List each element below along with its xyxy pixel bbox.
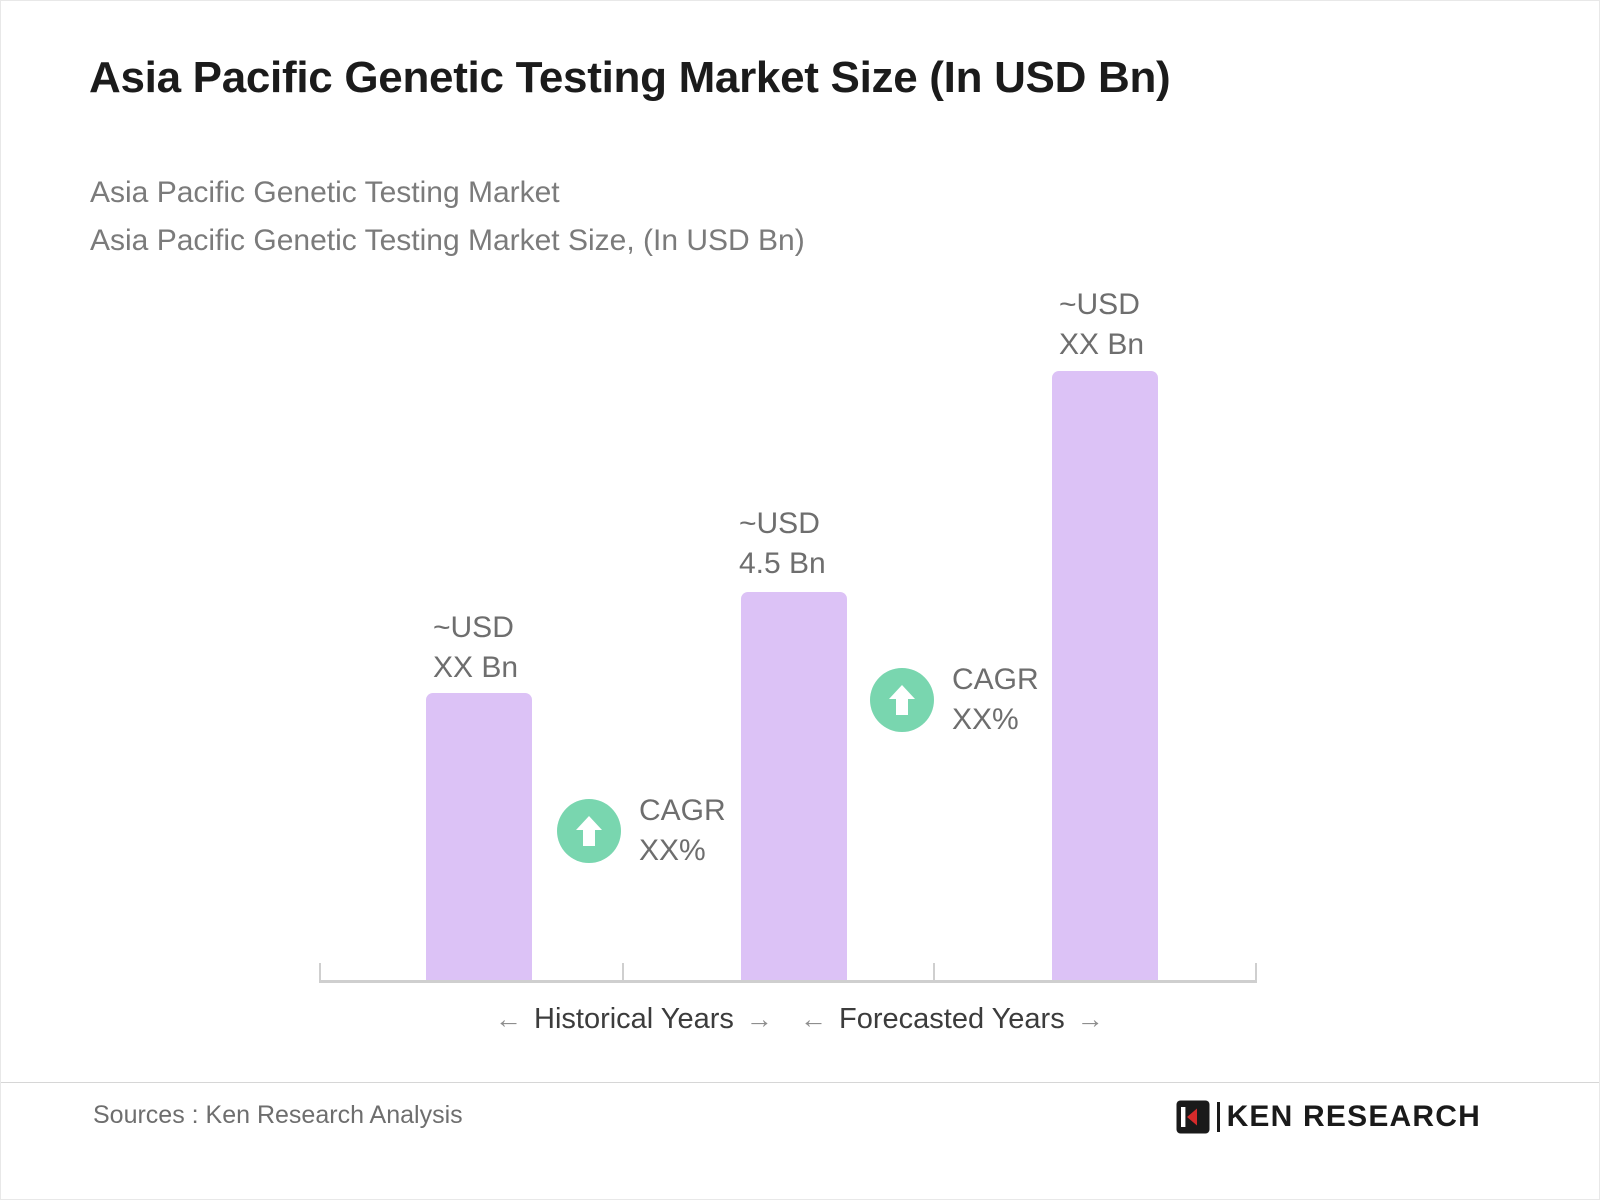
bar-label-historical-line1: ~USD xyxy=(433,608,518,648)
axis-caption-forecast: ← Forecasted Years → xyxy=(800,1003,1104,1036)
bar-base xyxy=(741,592,847,981)
arrow-left-icon: ← xyxy=(800,1004,827,1035)
ken-research-k-mark-icon xyxy=(1176,1100,1210,1134)
x-axis-line xyxy=(319,980,1257,983)
arrow-up-icon xyxy=(887,683,917,717)
bar-label-forecast: ~USD XX Bn xyxy=(1059,285,1144,365)
x-axis-tick-start xyxy=(319,963,321,983)
cagr-annotation-historical: CAGR XX% xyxy=(557,791,726,871)
x-axis-tick-2 xyxy=(933,963,935,983)
arrow-up-icon xyxy=(574,814,604,848)
cagr-label-historical: CAGR XX% xyxy=(639,791,726,871)
bar-label-base: ~USD 4.5 Bn xyxy=(739,504,826,584)
bar-label-historical: ~USD XX Bn xyxy=(433,608,518,688)
arrow-right-icon: → xyxy=(1077,1004,1104,1035)
bar-forecast xyxy=(1052,371,1158,981)
cagr-label-forecast-line1: CAGR xyxy=(952,660,1039,700)
cagr-label-historical-line2: XX% xyxy=(639,831,726,871)
bar-label-base-line1: ~USD xyxy=(739,504,826,544)
logo-divider xyxy=(1217,1102,1220,1132)
axis-caption-historical: ← Historical Years → xyxy=(495,1003,773,1036)
arrow-right-icon: → xyxy=(746,1004,773,1035)
footer-divider xyxy=(1,1082,1600,1083)
slide-canvas: Asia Pacific Genetic Testing Market Size… xyxy=(0,0,1600,1200)
x-axis-tick-1 xyxy=(622,963,624,983)
sources-text: Sources : Ken Research Analysis xyxy=(93,1101,463,1130)
bar-historical xyxy=(426,693,532,981)
cagr-annotation-forecast: CAGR XX% xyxy=(870,660,1039,740)
x-axis-tick-end xyxy=(1255,963,1257,983)
cagr-badge-circle-historical xyxy=(557,799,621,863)
bar-chart: ~USD XX Bn ~USD 4.5 Bn ~USD XX Bn CAGR X… xyxy=(1,1,1600,1061)
cagr-label-forecast: CAGR XX% xyxy=(952,660,1039,740)
axis-caption-historical-label: Historical Years xyxy=(534,1003,734,1036)
cagr-label-historical-line1: CAGR xyxy=(639,791,726,831)
bar-label-historical-line2: XX Bn xyxy=(433,648,518,688)
arrow-left-icon: ← xyxy=(495,1004,522,1035)
cagr-label-forecast-line2: XX% xyxy=(952,700,1039,740)
ken-research-logo: KEN RESEARCH xyxy=(1176,1100,1481,1134)
bar-label-forecast-line1: ~USD xyxy=(1059,285,1144,325)
bar-label-base-line2: 4.5 Bn xyxy=(739,544,826,584)
cagr-badge-circle-forecast xyxy=(870,668,934,732)
axis-caption-forecast-label: Forecasted Years xyxy=(839,1003,1065,1036)
bar-label-forecast-line2: XX Bn xyxy=(1059,325,1144,365)
logo-wordmark: KEN RESEARCH xyxy=(1227,1100,1481,1134)
